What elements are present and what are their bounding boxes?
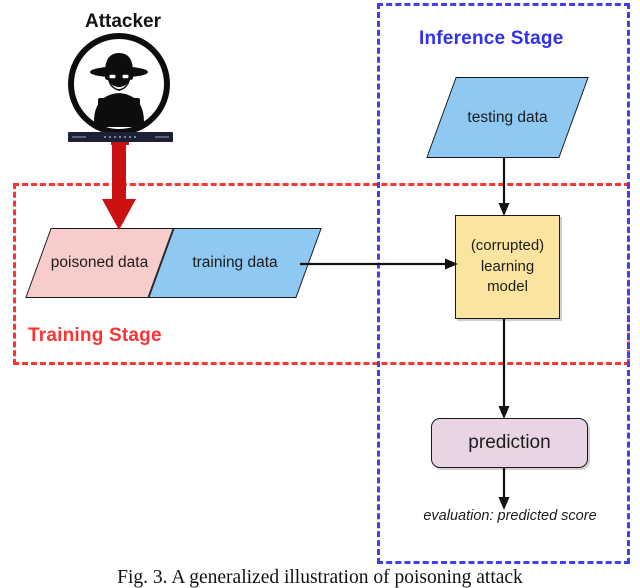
training-stage-label: Training Stage [28, 325, 162, 347]
arrow-prediction-to-evaluation [494, 468, 514, 510]
arrow-learning-model-to-prediction [494, 319, 514, 419]
node-prediction[interactable]: prediction [431, 418, 588, 468]
testing-data-label: testing data [441, 77, 574, 158]
training-data-label: training data [161, 228, 309, 298]
node-testing-data[interactable]: testing data [441, 77, 574, 158]
figure-canvas: Training Stage Inference Stage Attacker [0, 0, 640, 588]
attacker-label: Attacker [60, 11, 186, 33]
inference-stage-label: Inference Stage [419, 28, 564, 50]
figure-caption: Fig. 3. A generalized illustration of po… [0, 567, 640, 588]
attacker-device-bar [68, 132, 173, 142]
evaluation-label: evaluation: predicted score [404, 508, 616, 524]
attacker-bar-accent [111, 142, 129, 145]
node-poisoned-data[interactable]: poisoned data [38, 228, 161, 298]
learning-model-line-2: learning [481, 257, 534, 278]
arrow-training-data-to-learning-model [300, 255, 458, 273]
arrow-testing-data-to-learning-model [494, 158, 514, 216]
learning-model-line-1: (corrupted) [471, 236, 544, 257]
learning-model-line-3: model [487, 277, 528, 298]
node-learning-model[interactable]: (corrupted) learning model [455, 215, 560, 319]
prediction-label: prediction [468, 432, 550, 454]
node-training-data[interactable]: training data [161, 228, 309, 298]
hacker-avatar-icon [67, 32, 171, 136]
poisoned-data-label: poisoned data [38, 228, 161, 298]
poison-injection-arrow-icon [102, 141, 136, 230]
